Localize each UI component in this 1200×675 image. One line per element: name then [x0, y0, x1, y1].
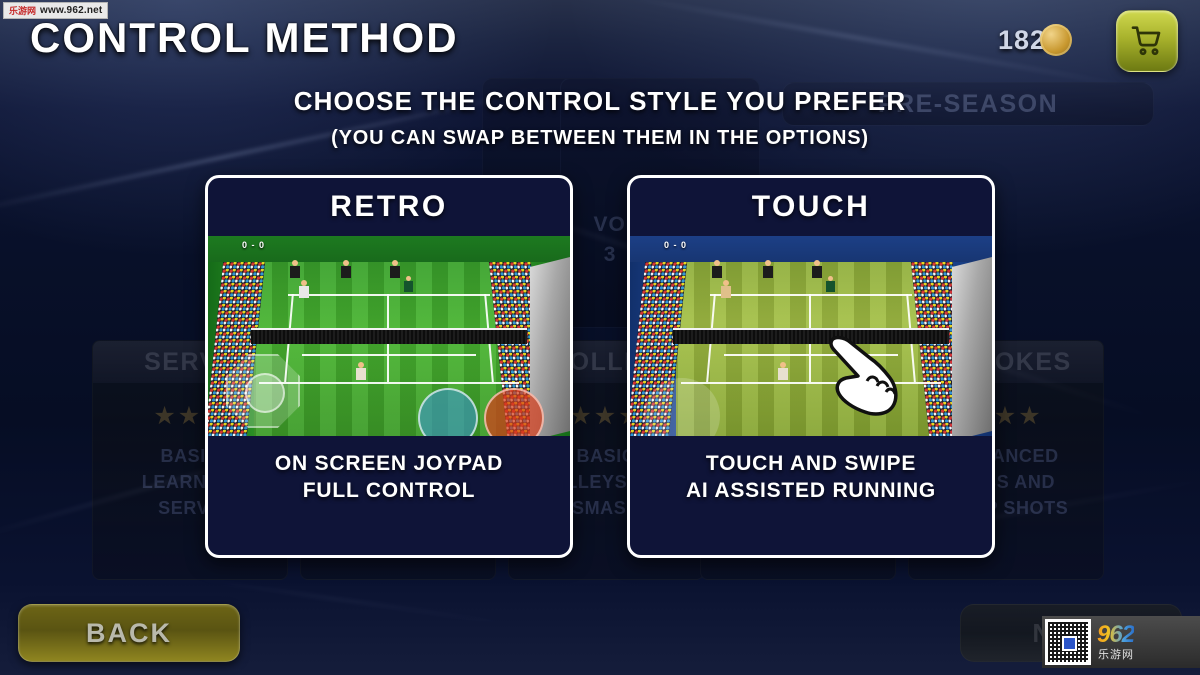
- back-button-label: BACK: [86, 618, 172, 649]
- option-description-retro: ON SCREEN JOYPAD FULL CONTROL: [208, 450, 570, 505]
- spectator-sprite: [290, 260, 300, 278]
- tennis-net: [251, 328, 526, 344]
- pointing-hand-cursor-icon: [826, 334, 904, 420]
- joypad-octagon-control[interactable]: [226, 354, 300, 428]
- spectator-sprite: [712, 260, 722, 278]
- qr-code-icon: [1045, 619, 1091, 665]
- prompt-headline: CHOOSE THE CONTROL STYLE YOU PREFER: [0, 86, 1200, 117]
- tennis-net: [673, 328, 948, 344]
- user-player-sprite: [356, 362, 369, 384]
- court-illustration: 0 - 0: [208, 236, 570, 436]
- watermark-bottom-right: 962 .NET 乐游网: [1042, 616, 1200, 668]
- option-title-retro: RETRO: [208, 178, 570, 236]
- watermark-cn-text: 乐游网: [9, 4, 36, 17]
- opponent-player-sprite: [721, 280, 731, 298]
- opponent-player-sprite: [299, 280, 309, 298]
- option-preview-touch: 0 - 0: [630, 236, 992, 436]
- umpire-sprite: [404, 276, 413, 298]
- site-logo: 962 .NET 乐游网: [1097, 623, 1134, 661]
- coin-icon: [1040, 24, 1072, 56]
- option-preview-retro: 0 - 0: [208, 236, 570, 436]
- control-option-retro[interactable]: RETRO 0 - 0: [205, 175, 573, 558]
- site-logo-cn: 乐游网: [1097, 650, 1134, 661]
- match-score: 0 - 0: [664, 240, 687, 250]
- control-option-touch[interactable]: TOUCH 0 - 0: [627, 175, 995, 558]
- umpire-sprite: [826, 276, 835, 298]
- watermark-url: www.962.net: [40, 5, 102, 16]
- coin-amount: 182: [998, 25, 1046, 56]
- back-button[interactable]: BACK: [18, 604, 240, 662]
- spectator-sprite: [763, 260, 773, 278]
- game-screen: PRE-SEASON ENERGY FH 3 BH 2 SV 3: [0, 0, 1200, 675]
- match-score: 0 - 0: [242, 240, 265, 250]
- site-logo-number: 962: [1097, 623, 1134, 647]
- site-logo-row: 962 .NET: [1097, 623, 1134, 647]
- coin-balance: 182: [998, 24, 1072, 56]
- court-illustration: 0 - 0: [630, 236, 992, 436]
- spectator-sprite: [341, 260, 351, 278]
- spectator-sprite: [390, 260, 400, 278]
- watermark-top-left: 乐游网 www.962.net: [3, 2, 108, 19]
- option-title-touch: TOUCH: [630, 178, 992, 236]
- stat-volley-2: VO 3: [593, 213, 625, 267]
- shopping-cart-icon: [1130, 25, 1164, 57]
- page-title: CONTROL METHOD: [30, 14, 459, 62]
- spectator-sprite: [812, 260, 822, 278]
- shop-button[interactable]: [1116, 10, 1178, 72]
- user-player-sprite: [778, 362, 791, 384]
- prompt-subline: (YOU CAN SWAP BETWEEN THEM IN THE OPTION…: [0, 127, 1200, 150]
- option-description-touch: TOUCH AND SWIPE AI ASSISTED RUNNING: [630, 450, 992, 505]
